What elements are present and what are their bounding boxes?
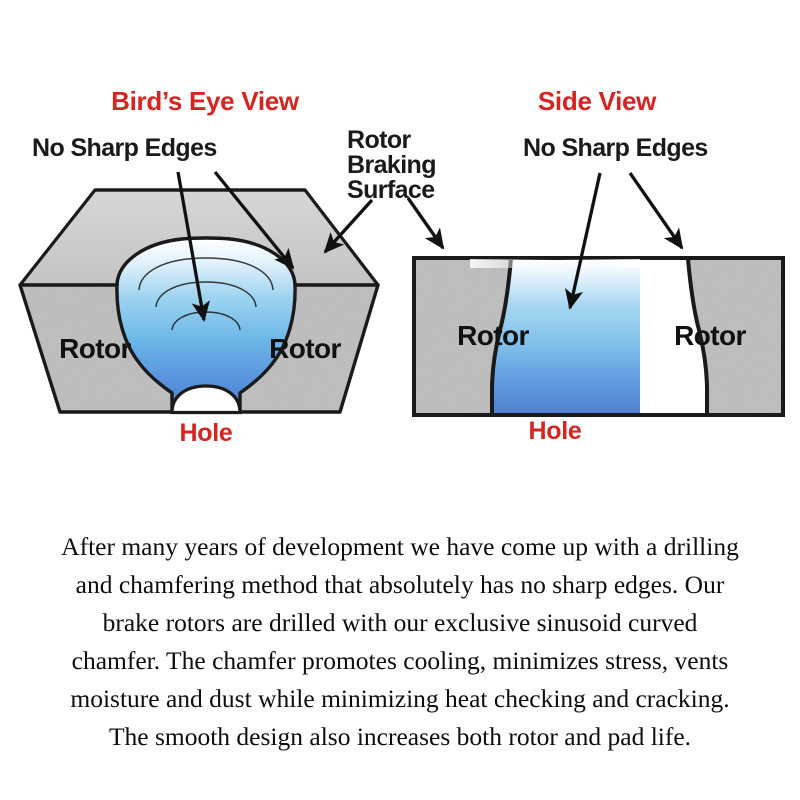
diagram-canvas: Bird’s Eye View No Sharp Edges Rotor Bra… <box>0 0 800 800</box>
side-view-top-blend <box>470 259 640 268</box>
arrow-braking-surface-right <box>408 198 443 248</box>
side-view-title: Side View <box>452 88 742 115</box>
rotor-braking-surface-line3: Surface <box>347 177 435 204</box>
rotor-text-sideview-left: Rotor <box>423 320 563 352</box>
paragraph-line-6: The smooth design also increases both ro… <box>8 718 792 756</box>
paragraph-line-5: moisture and dust while minimizing heat … <box>8 680 792 718</box>
rotor-text-sideview-right: Rotor <box>640 320 780 352</box>
hole-label-birdseye: Hole <box>146 420 266 446</box>
side-view-block <box>414 173 783 415</box>
paragraph-line-2: and chamfering method that absolutely ha… <box>8 566 792 604</box>
paragraph-line-4: chamfer. The chamfer promotes cooling, m… <box>8 642 792 680</box>
birds-eye-block <box>20 172 378 413</box>
rotor-text-birdseye-left: Rotor <box>30 333 160 365</box>
no-sharp-edges-label-left: No Sharp Edges <box>32 135 217 161</box>
rotor-braking-surface-line1: Rotor <box>347 127 411 154</box>
rotor-braking-surface-line2: Braking <box>347 152 436 179</box>
arrow-no-sharp-edges-right-b <box>630 173 682 248</box>
description-paragraph: After many years of development we have … <box>8 528 792 756</box>
hole-label-sideview: Hole <box>495 418 615 444</box>
rotor-text-birdseye-right: Rotor <box>240 333 370 365</box>
paragraph-line-1: After many years of development we have … <box>8 528 792 566</box>
birds-eye-view-title: Bird’s Eye View <box>60 88 350 115</box>
no-sharp-edges-label-right: No Sharp Edges <box>523 135 708 161</box>
paragraph-line-3: brake rotors are drilled with our exclus… <box>8 604 792 642</box>
